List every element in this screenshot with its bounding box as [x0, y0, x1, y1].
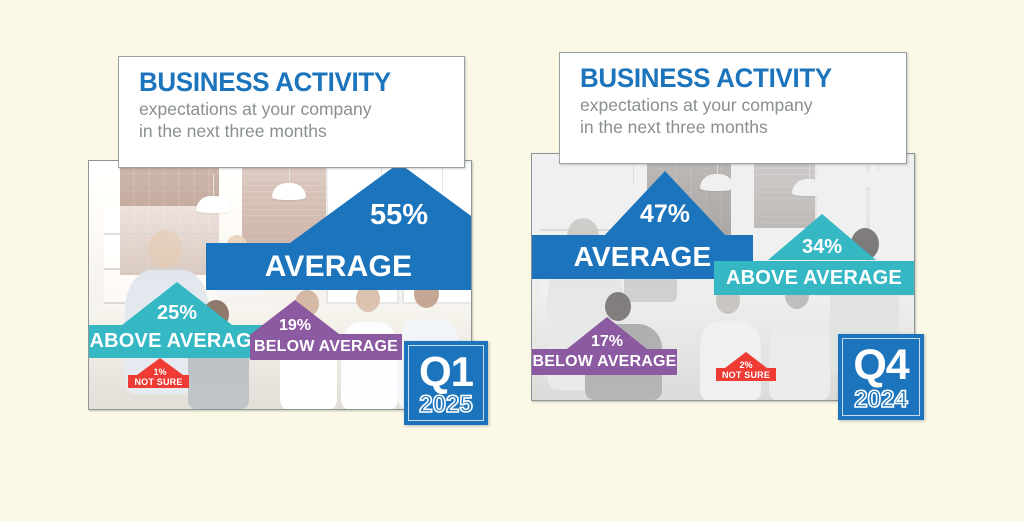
left-not-sure-bar: NOT SURE: [128, 375, 189, 388]
left-header-subtitle-2: in the next three months: [139, 121, 464, 143]
left-below-average-bar: BELOW AVERAGE: [250, 334, 402, 360]
right-header-card: BUSINESS ACTIVITY expectations at your c…: [559, 52, 907, 164]
right-below-average-bar: BELOW AVERAGE: [532, 349, 677, 375]
right-above-average-value: 34%: [768, 236, 876, 259]
right-quarter-badge: Q4 2024: [838, 334, 924, 420]
right-average-value: 47%: [603, 200, 727, 229]
left-not-sure-label: NOT SURE: [134, 377, 182, 387]
left-above-average-label: ABOVE AVERAGE: [90, 330, 266, 353]
left-quarter-badge: Q1 2025: [404, 341, 488, 425]
right-header-subtitle-2: in the next three months: [580, 117, 906, 139]
left-above-average-value: 25%: [122, 302, 232, 325]
right-not-sure-bar: NOT SURE: [716, 368, 776, 381]
left-below-average-label: BELOW AVERAGE: [254, 338, 398, 356]
left-badge-year: 2025: [419, 393, 472, 417]
right-average-label: AVERAGE: [574, 241, 712, 273]
left-average-label: AVERAGE: [265, 250, 413, 284]
left-below-average-value: 19%: [251, 317, 339, 335]
right-header-subtitle-1: expectations at your company: [580, 95, 906, 117]
left-average-value: 55%: [290, 199, 472, 232]
right-badge-year: 2024: [854, 388, 907, 412]
right-above-average-label: ABOVE AVERAGE: [726, 267, 902, 290]
left-above-average-bar: ABOVE AVERAGE: [89, 325, 266, 358]
left-header-card: BUSINESS ACTIVITY expectations at your c…: [118, 56, 465, 168]
right-below-average-label: BELOW AVERAGE: [533, 353, 677, 371]
left-header-title: BUSINESS ACTIVITY: [139, 68, 451, 96]
left-header-subtitle-1: expectations at your company: [139, 99, 464, 121]
left-badge-quarter: Q1: [419, 353, 473, 392]
left-average-bar: AVERAGE: [206, 243, 471, 290]
right-badge-quarter: Q4: [853, 346, 908, 386]
right-above-average-bar: ABOVE AVERAGE: [714, 261, 914, 295]
infographic-canvas: 55% AVERAGE 25% ABOVE AVERAGE 19% BELOW …: [0, 0, 1024, 521]
right-header-title: BUSINESS ACTIVITY: [580, 64, 893, 92]
right-not-sure-label: NOT SURE: [722, 370, 770, 380]
